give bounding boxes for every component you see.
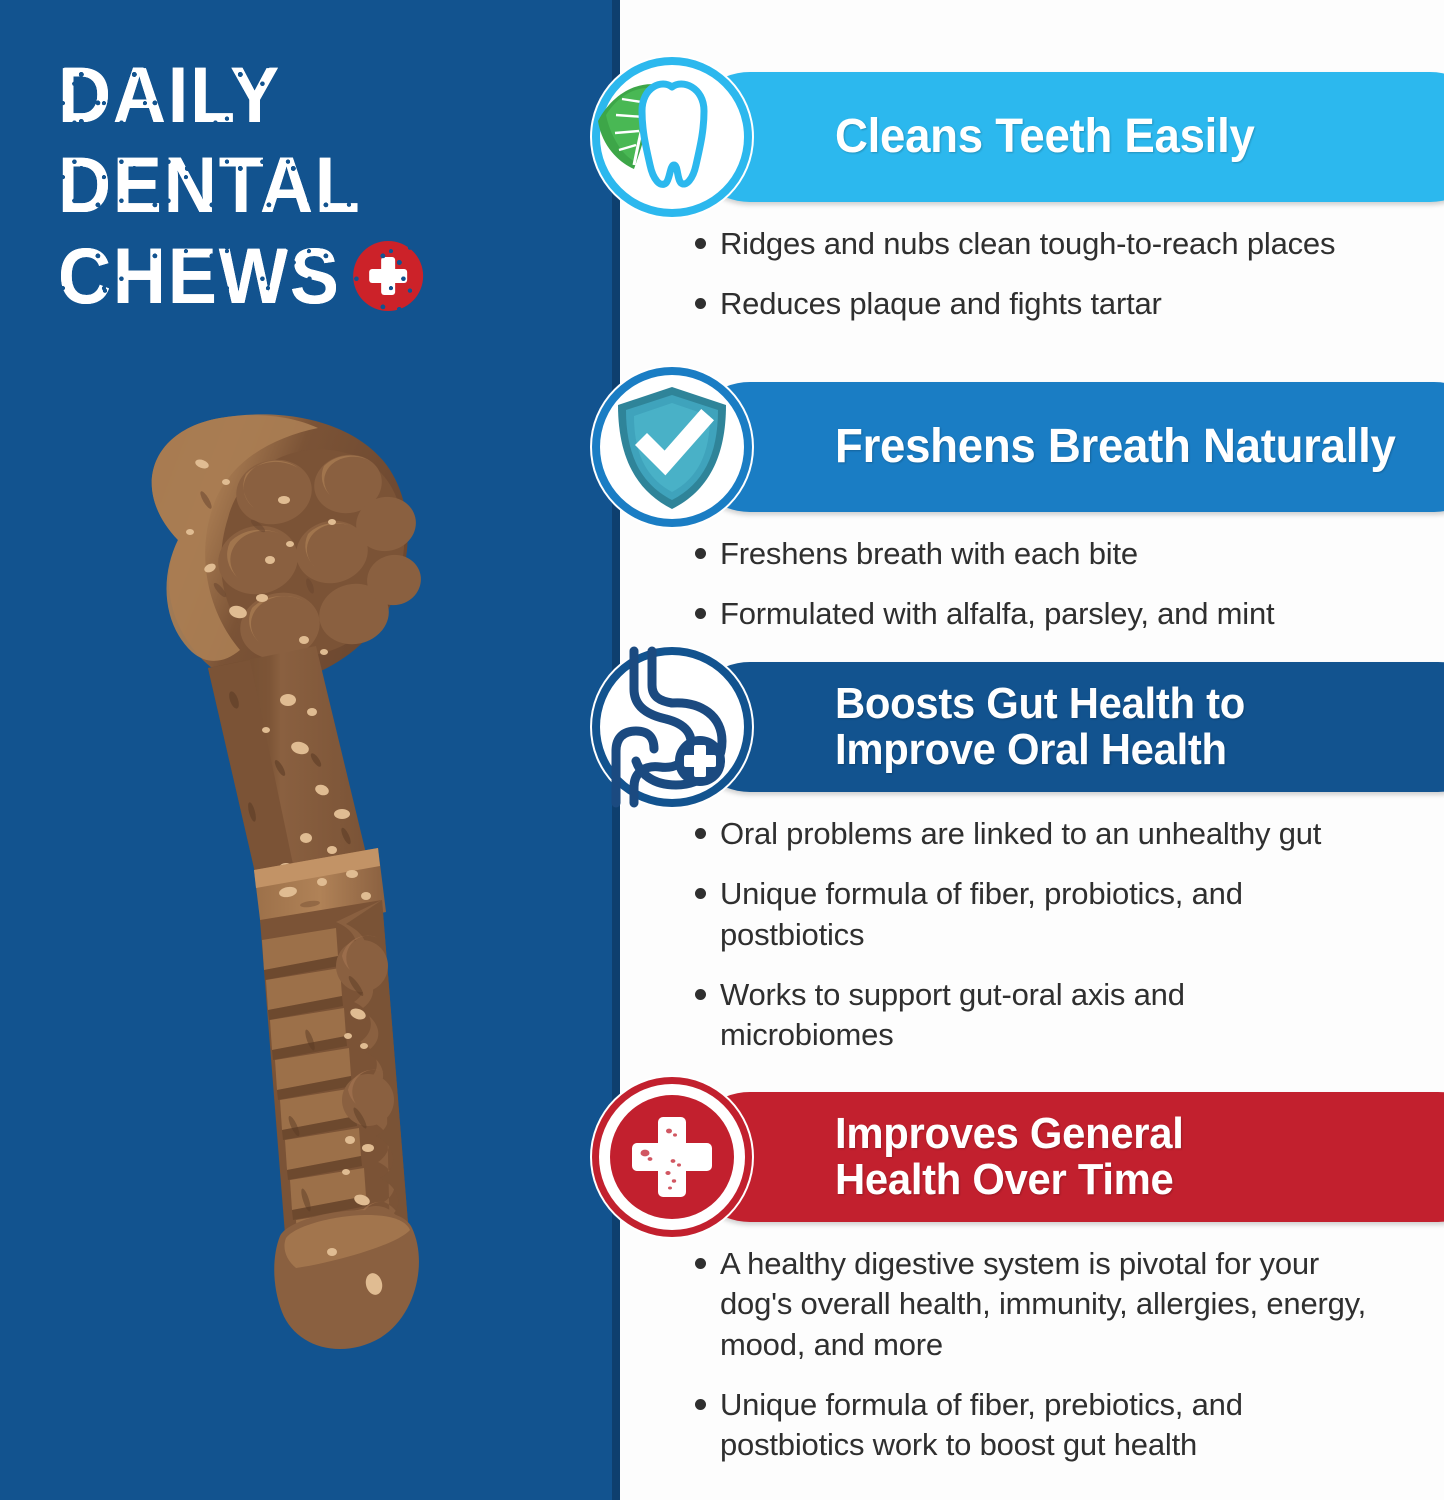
bullet-dot: [695, 608, 706, 619]
feature-bullets-2: Freshens breath with each bite Formulate…: [695, 534, 1435, 655]
dog-chew-toy-illustration: [110, 400, 510, 1400]
feature-bullets-4: A healthy digestive system is pivotal fo…: [695, 1244, 1435, 1485]
list-item: Oral problems are linked to an unhealthy…: [695, 814, 1435, 854]
feature-title-1: Cleans Teeth Easily: [835, 112, 1255, 162]
medical-plus-icon: [353, 241, 423, 311]
feature-header-pill-4[interactable]: Improves General Health Over Time: [685, 1092, 1444, 1222]
bullet-dot: [695, 1258, 706, 1269]
title-line-3-row: CHEWS: [58, 239, 458, 313]
title-line-2: DENTAL: [58, 148, 458, 222]
bullet-dot: [695, 828, 706, 839]
bullet-dot: [695, 1399, 706, 1410]
feature-title-3: Boosts Gut Health to Improve Oral Health: [835, 681, 1245, 773]
feature-header-pill-2[interactable]: Freshens Breath Naturally: [685, 382, 1444, 512]
chew-head: [152, 414, 426, 684]
list-item: Unique formula of fiber, probiotics, and…: [695, 874, 1435, 955]
product-title-block: DAILY DENTAL CHEWS: [58, 58, 488, 313]
bullet-dot: [695, 989, 706, 1000]
tooth-with-mint-leaves-icon: [590, 55, 754, 219]
list-item: Works to support gut-oral axis and micro…: [695, 975, 1435, 1056]
list-item: Freshens breath with each bite: [695, 534, 1435, 574]
title-line-3: CHEWS: [58, 239, 341, 313]
left-blue-panel: DAILY DENTAL CHEWS: [0, 0, 620, 1500]
list-item: A healthy digestive system is pivotal fo…: [695, 1244, 1435, 1365]
title-line-1: DAILY: [58, 58, 458, 132]
stomach-plus-icon: [590, 645, 754, 809]
feature-header-pill-1[interactable]: Cleans Teeth Easily: [685, 72, 1444, 202]
feature-bullets-3: Oral problems are linked to an unhealthy…: [695, 814, 1435, 1075]
bullet-dot: [695, 888, 706, 899]
list-item: Ridges and nubs clean tough-to-reach pla…: [695, 224, 1435, 264]
feature-title-2: Freshens Breath Naturally: [835, 422, 1396, 472]
feature-title-4: Improves General Health Over Time: [835, 1111, 1184, 1203]
list-item: Formulated with alfalfa, parsley, and mi…: [695, 594, 1435, 634]
list-item: Reduces plaque and fights tartar: [695, 284, 1435, 324]
shield-check-icon: [590, 365, 754, 529]
list-item: Unique formula of fiber, prebiotics, and…: [695, 1385, 1435, 1466]
medical-cross-circle-icon: [590, 1075, 754, 1239]
bullet-dot: [695, 548, 706, 559]
feature-header-pill-3[interactable]: Boosts Gut Health to Improve Oral Health: [685, 662, 1444, 792]
bullet-dot: [695, 298, 706, 309]
bullet-dot: [695, 238, 706, 249]
features-panel: Cleans Teeth Easily Ridges and nubs clea…: [620, 0, 1444, 1500]
feature-bullets-1: Ridges and nubs clean tough-to-reach pla…: [695, 224, 1435, 345]
chew-bottom-cap: [274, 1210, 419, 1349]
